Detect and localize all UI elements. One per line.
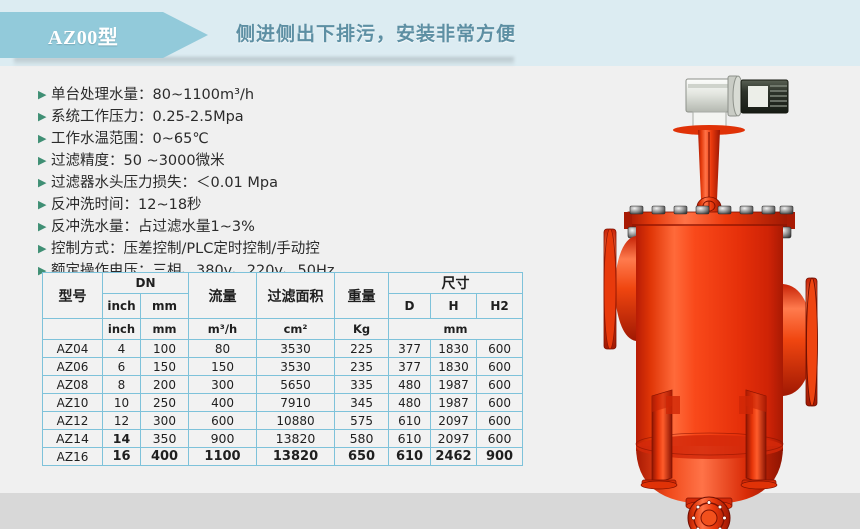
unit-mm: mm — [141, 319, 189, 340]
cell-inch: 10 — [103, 394, 141, 412]
col-header-d: D — [389, 294, 431, 319]
table-head: 型号 DN 流量 过滤面积 重量 尺寸 inch mm D H H2 inch — [43, 273, 523, 340]
cell-mm: 300 — [141, 412, 189, 430]
bullet-triangle-icon: ▶ — [38, 128, 51, 150]
cell-h: 1830 — [431, 340, 477, 358]
cell-area: 3530 — [257, 358, 335, 376]
cell-h: 1830 — [431, 358, 477, 376]
spec-item: ▶ 反冲洗水量：占过滤水量1~3% — [38, 216, 508, 238]
cell-area: 10880 — [257, 412, 335, 430]
bullet-triangle-icon: ▶ — [38, 84, 51, 106]
cell-h: 2462 — [431, 448, 477, 466]
bullet-triangle-icon: ▶ — [38, 194, 51, 216]
cell-area: 5650 — [257, 376, 335, 394]
cell-flow: 150 — [189, 358, 257, 376]
spec-list: ▶ 单台处理水量：80~1100m³/h ▶ 系统工作压力：0.25-2.5Mp… — [38, 84, 508, 282]
unit-model — [43, 319, 103, 340]
model-arrow-tag: AZ00型 — [0, 12, 208, 58]
spec-item-label: 工作水温范围：0~65℃ — [51, 128, 209, 150]
cell-d: 480 — [389, 376, 431, 394]
spec-item-label: 单台处理水量：80~1100m³/h — [51, 84, 254, 106]
cell-weight: 345 — [335, 394, 389, 412]
cell-mm: 250 — [141, 394, 189, 412]
cell-h2: 600 — [477, 412, 523, 430]
cell-weight: 335 — [335, 376, 389, 394]
table-row: AZ10 10 250 400 7910 345 480 1987 600 — [43, 394, 523, 412]
cell-weight: 225 — [335, 340, 389, 358]
cell-weight: 235 — [335, 358, 389, 376]
unit-area: cm² — [257, 319, 335, 340]
cell-h2: 600 — [477, 394, 523, 412]
cell-model: AZ14 — [43, 430, 103, 448]
inlet-nozzle-left — [604, 229, 636, 349]
cell-model: AZ16 — [43, 448, 103, 466]
cell-area: 13820 — [257, 430, 335, 448]
spec-item-label: 过滤精度：50 ~3000微米 — [51, 150, 225, 172]
cell-h: 1987 — [431, 376, 477, 394]
spec-item: ▶ 反冲洗时间：12~18秒 — [38, 194, 508, 216]
cell-area: 3530 — [257, 340, 335, 358]
cell-weight: 580 — [335, 430, 389, 448]
cell-flow: 600 — [189, 412, 257, 430]
cell-mm: 350 — [141, 430, 189, 448]
cell-inch: 8 — [103, 376, 141, 394]
table-body: AZ04 4 100 80 3530 225 377 1830 600 AZ06… — [43, 340, 523, 466]
table-row: AZ06 6 150 150 3530 235 377 1830 600 — [43, 358, 523, 376]
header-banner: AZ00型 侧进侧出下排污，安装非常方便 — [0, 0, 860, 66]
spec-item: ▶ 控制方式：压差控制/PLC定时控制/手动控 — [38, 238, 508, 260]
spec-item-label: 反冲洗时间：12~18秒 — [51, 194, 202, 216]
spec-item: ▶ 单台处理水量：80~1100m³/h — [38, 84, 508, 106]
cell-d: 377 — [389, 358, 431, 376]
bottom-drain-valve — [686, 497, 732, 529]
cell-mm: 400 — [141, 448, 189, 466]
col-header-h: H — [431, 294, 477, 319]
cell-model: AZ10 — [43, 394, 103, 412]
spec-item: ▶ 过滤器水头压力损失：＜0.01 Mpa — [38, 172, 508, 194]
table-header-row-1: 型号 DN 流量 过滤面积 重量 尺寸 — [43, 273, 523, 294]
col-header-h2: H2 — [477, 294, 523, 319]
cell-mm: 200 — [141, 376, 189, 394]
bullet-triangle-icon: ▶ — [38, 172, 51, 194]
table-row: AZ04 4 100 80 3530 225 377 1830 600 — [43, 340, 523, 358]
bullet-triangle-icon: ▶ — [38, 216, 51, 238]
cell-mm: 150 — [141, 358, 189, 376]
cell-flow: 1100 — [189, 448, 257, 466]
unit-inch: inch — [103, 319, 141, 340]
cell-model: AZ04 — [43, 340, 103, 358]
unit-weight: Kg — [335, 319, 389, 340]
cell-h: 2097 — [431, 430, 477, 448]
table-row: AZ08 8 200 300 5650 335 480 1987 600 — [43, 376, 523, 394]
col-header-weight: 重量 — [335, 273, 389, 319]
cell-weight: 650 — [335, 448, 389, 466]
cell-d: 480 — [389, 394, 431, 412]
cell-model: AZ12 — [43, 412, 103, 430]
table-units-row: inch mm m³/h cm² Kg mm — [43, 319, 523, 340]
cell-flow: 900 — [189, 430, 257, 448]
cell-inch: 12 — [103, 412, 141, 430]
cell-inch: 6 — [103, 358, 141, 376]
banner-subtitle: 侧进侧出下排污，安装非常方便 — [236, 19, 516, 46]
col-header-area: 过滤面积 — [257, 273, 335, 319]
motor-stand — [673, 125, 745, 217]
model-label: AZ00型 — [48, 21, 118, 50]
cell-inch: 14 — [103, 430, 141, 448]
table-row: AZ16 16 400 1100 13820 650 610 2462 900 — [43, 448, 523, 466]
spec-table: 型号 DN 流量 过滤面积 重量 尺寸 inch mm D H H2 inch — [42, 272, 523, 466]
cell-h2: 600 — [477, 358, 523, 376]
col-header-dn-mm: mm — [141, 294, 189, 319]
spec-item-label: 控制方式：压差控制/PLC定时控制/手动控 — [51, 238, 320, 260]
unit-dimensions: mm — [389, 319, 523, 340]
cell-h2: 600 — [477, 430, 523, 448]
spec-item: ▶ 工作水温范围：0~65℃ — [38, 128, 508, 150]
spec-table-container: 型号 DN 流量 过滤面积 重量 尺寸 inch mm D H H2 inch — [42, 272, 514, 466]
cell-h2: 600 — [477, 340, 523, 358]
cell-h: 1987 — [431, 394, 477, 412]
spec-item: ▶ 系统工作压力：0.25-2.5Mpa — [38, 106, 508, 128]
cell-flow: 300 — [189, 376, 257, 394]
col-header-model: 型号 — [43, 273, 103, 319]
cell-model: AZ06 — [43, 358, 103, 376]
cell-d: 610 — [389, 448, 431, 466]
cell-d: 377 — [389, 340, 431, 358]
col-header-dn-inch: inch — [103, 294, 141, 319]
cell-inch: 16 — [103, 448, 141, 466]
cell-inch: 4 — [103, 340, 141, 358]
cell-flow: 400 — [189, 394, 257, 412]
table-row: AZ12 12 300 600 10880 575 610 2097 600 — [43, 412, 523, 430]
cell-d: 610 — [389, 430, 431, 448]
bullet-triangle-icon: ▶ — [38, 150, 51, 172]
col-header-flow: 流量 — [189, 273, 257, 319]
cell-model: AZ08 — [43, 376, 103, 394]
spec-item: ▶ 过滤精度：50 ~3000微米 — [38, 150, 508, 172]
product-illustration — [600, 66, 860, 529]
col-header-dimensions: 尺寸 — [389, 273, 523, 294]
cell-d: 610 — [389, 412, 431, 430]
spec-item-label: 过滤器水头压力损失：＜0.01 Mpa — [51, 172, 278, 194]
bullet-triangle-icon: ▶ — [38, 238, 51, 260]
cell-area: 7910 — [257, 394, 335, 412]
spec-item-label: 反冲洗水量：占过滤水量1~3% — [51, 216, 255, 238]
cell-h2: 600 — [477, 376, 523, 394]
cell-mm: 100 — [141, 340, 189, 358]
cell-area: 13820 — [257, 448, 335, 466]
cell-h: 2097 — [431, 412, 477, 430]
table-row: AZ14 14 350 900 13820 580 610 2097 600 — [43, 430, 523, 448]
outlet-nozzle-right — [783, 278, 818, 406]
slide-root: AZ00型 侧进侧出下排污，安装非常方便 ▶ 单台处理水量：80~1100m³/… — [0, 0, 860, 529]
banner-shadow — [14, 57, 514, 66]
cell-h2: 900 — [477, 448, 523, 466]
gear-motor-assembly — [686, 76, 788, 127]
cell-flow: 80 — [189, 340, 257, 358]
unit-flow: m³/h — [189, 319, 257, 340]
spec-item-label: 系统工作压力：0.25-2.5Mpa — [51, 106, 244, 128]
col-header-dn: DN — [103, 273, 189, 294]
cell-weight: 575 — [335, 412, 389, 430]
bullet-triangle-icon: ▶ — [38, 106, 51, 128]
